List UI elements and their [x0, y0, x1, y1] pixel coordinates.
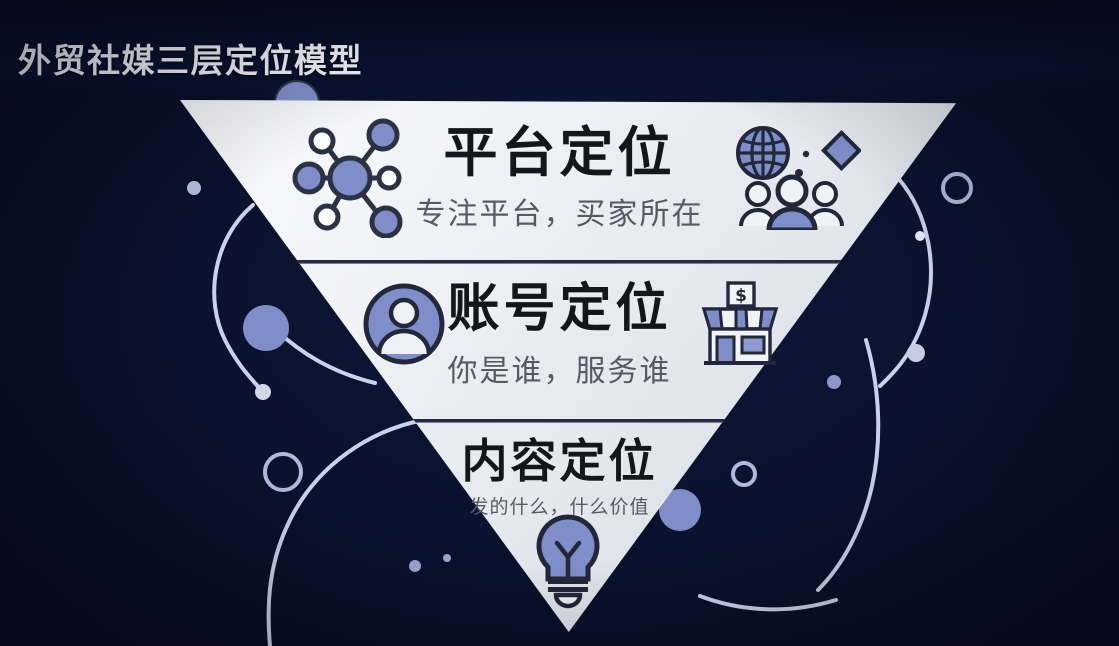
slide-canvas: 外贸社媒三层定位模型 平台定位 专注平台，买家所在 — [0, 0, 1119, 646]
globe-people-icon — [731, 126, 861, 234]
page-title: 外贸社媒三层定位模型 — [18, 34, 363, 82]
globe-icon — [738, 128, 788, 178]
dot-small-1 — [803, 151, 809, 157]
tier-divider-1 — [180, 260, 956, 264]
user-avatar-icon — [362, 282, 446, 370]
people-group-icon — [741, 177, 842, 230]
svg-text:$: $ — [735, 286, 747, 306]
tier-divider-2 — [180, 419, 956, 423]
diamond-icon — [824, 133, 859, 168]
network-nodes-icon — [292, 118, 408, 242]
lightbulb-icon — [527, 513, 609, 613]
storefront-icon: $ — [700, 281, 780, 371]
